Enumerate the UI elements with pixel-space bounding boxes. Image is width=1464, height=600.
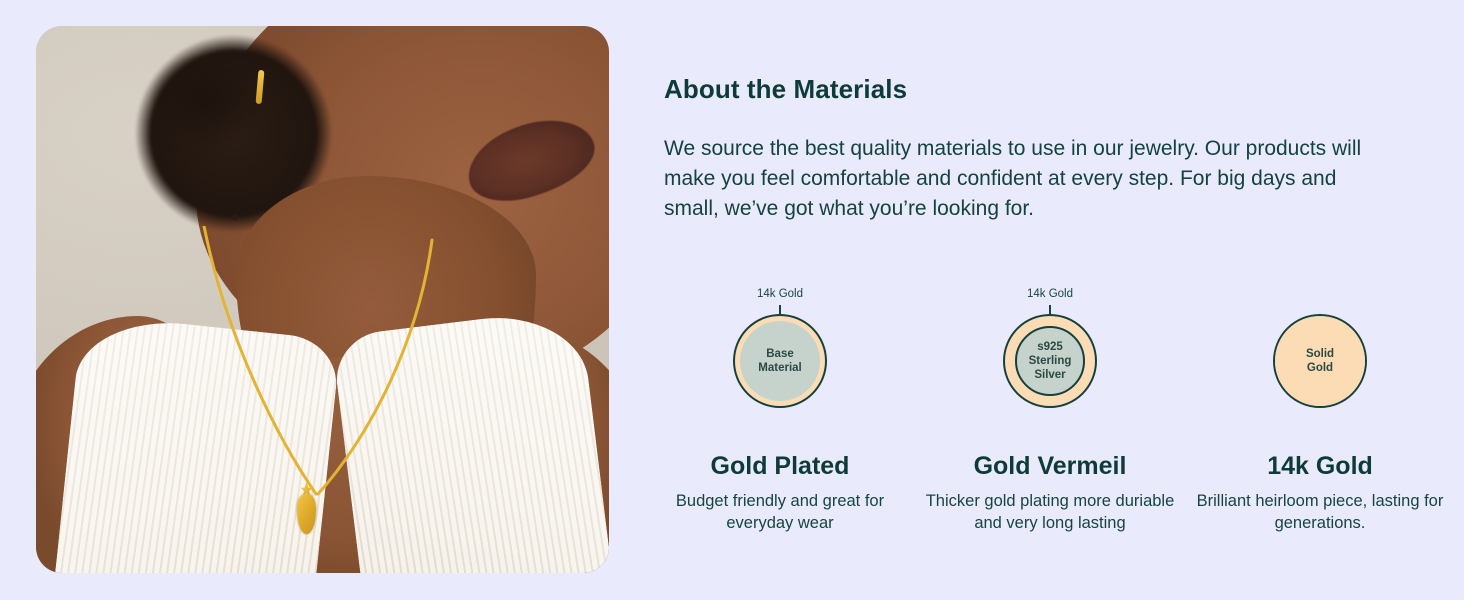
ring-diagram-gold-plated: Base Material bbox=[733, 314, 827, 408]
diagram-14k-gold: Solid Gold bbox=[1185, 278, 1455, 408]
ring-core-gold-vermeil: s925 Sterling Silver bbox=[1015, 326, 1085, 396]
material-desc-14k-gold: Brilliant heirloom piece, lasting for ge… bbox=[1190, 490, 1450, 534]
ring-diagram-gold-vermeil: s925 Sterling Silver bbox=[1003, 314, 1097, 408]
ring-core-14k-gold: Solid Gold bbox=[1275, 316, 1365, 406]
intro-paragraph: We source the best quality materials to … bbox=[664, 134, 1376, 224]
lead-label-gold-vermeil: 14k Gold bbox=[1027, 288, 1073, 300]
core-label-gold-plated: Base Material bbox=[758, 347, 801, 375]
material-desc-gold-vermeil: Thicker gold plating more duriable and v… bbox=[920, 490, 1180, 534]
material-title-gold-plated: Gold Plated bbox=[711, 452, 850, 480]
core-label-14k-gold: Solid Gold bbox=[1306, 347, 1334, 375]
material-columns: 14k Gold Base Material Gold Plated Budge… bbox=[645, 278, 1405, 534]
model-product-photo bbox=[36, 26, 609, 573]
page-title: About the Materials bbox=[664, 74, 907, 105]
gold-chain-necklace bbox=[186, 226, 466, 556]
material-column-14k-gold: Solid Gold 14k Gold Brilliant heirloom p… bbox=[1185, 278, 1455, 534]
ring-core-gold-plated: Base Material bbox=[740, 321, 820, 401]
model-beauty-mark bbox=[232, 214, 238, 220]
materials-content: About the Materials We source the best q… bbox=[645, 0, 1464, 600]
product-photo-pane bbox=[0, 0, 645, 600]
material-column-gold-plated: 14k Gold Base Material Gold Plated Budge… bbox=[645, 278, 915, 534]
material-desc-gold-plated: Budget friendly and great for everyday w… bbox=[650, 490, 910, 534]
core-label-gold-vermeil: s925 Sterling Silver bbox=[1029, 340, 1072, 382]
diagram-gold-plated: 14k Gold Base Material bbox=[645, 278, 915, 408]
materials-banner: About the Materials We source the best q… bbox=[0, 0, 1464, 600]
material-title-gold-vermeil: Gold Vermeil bbox=[974, 452, 1127, 480]
material-title-14k-gold: 14k Gold bbox=[1267, 452, 1373, 480]
ring-diagram-14k-gold: Solid Gold bbox=[1273, 314, 1367, 408]
material-column-gold-vermeil: 14k Gold s925 Sterling Silver Gold Verme… bbox=[915, 278, 1185, 534]
lead-label-gold-plated: 14k Gold bbox=[757, 288, 803, 300]
diagram-gold-vermeil: 14k Gold s925 Sterling Silver bbox=[915, 278, 1185, 408]
